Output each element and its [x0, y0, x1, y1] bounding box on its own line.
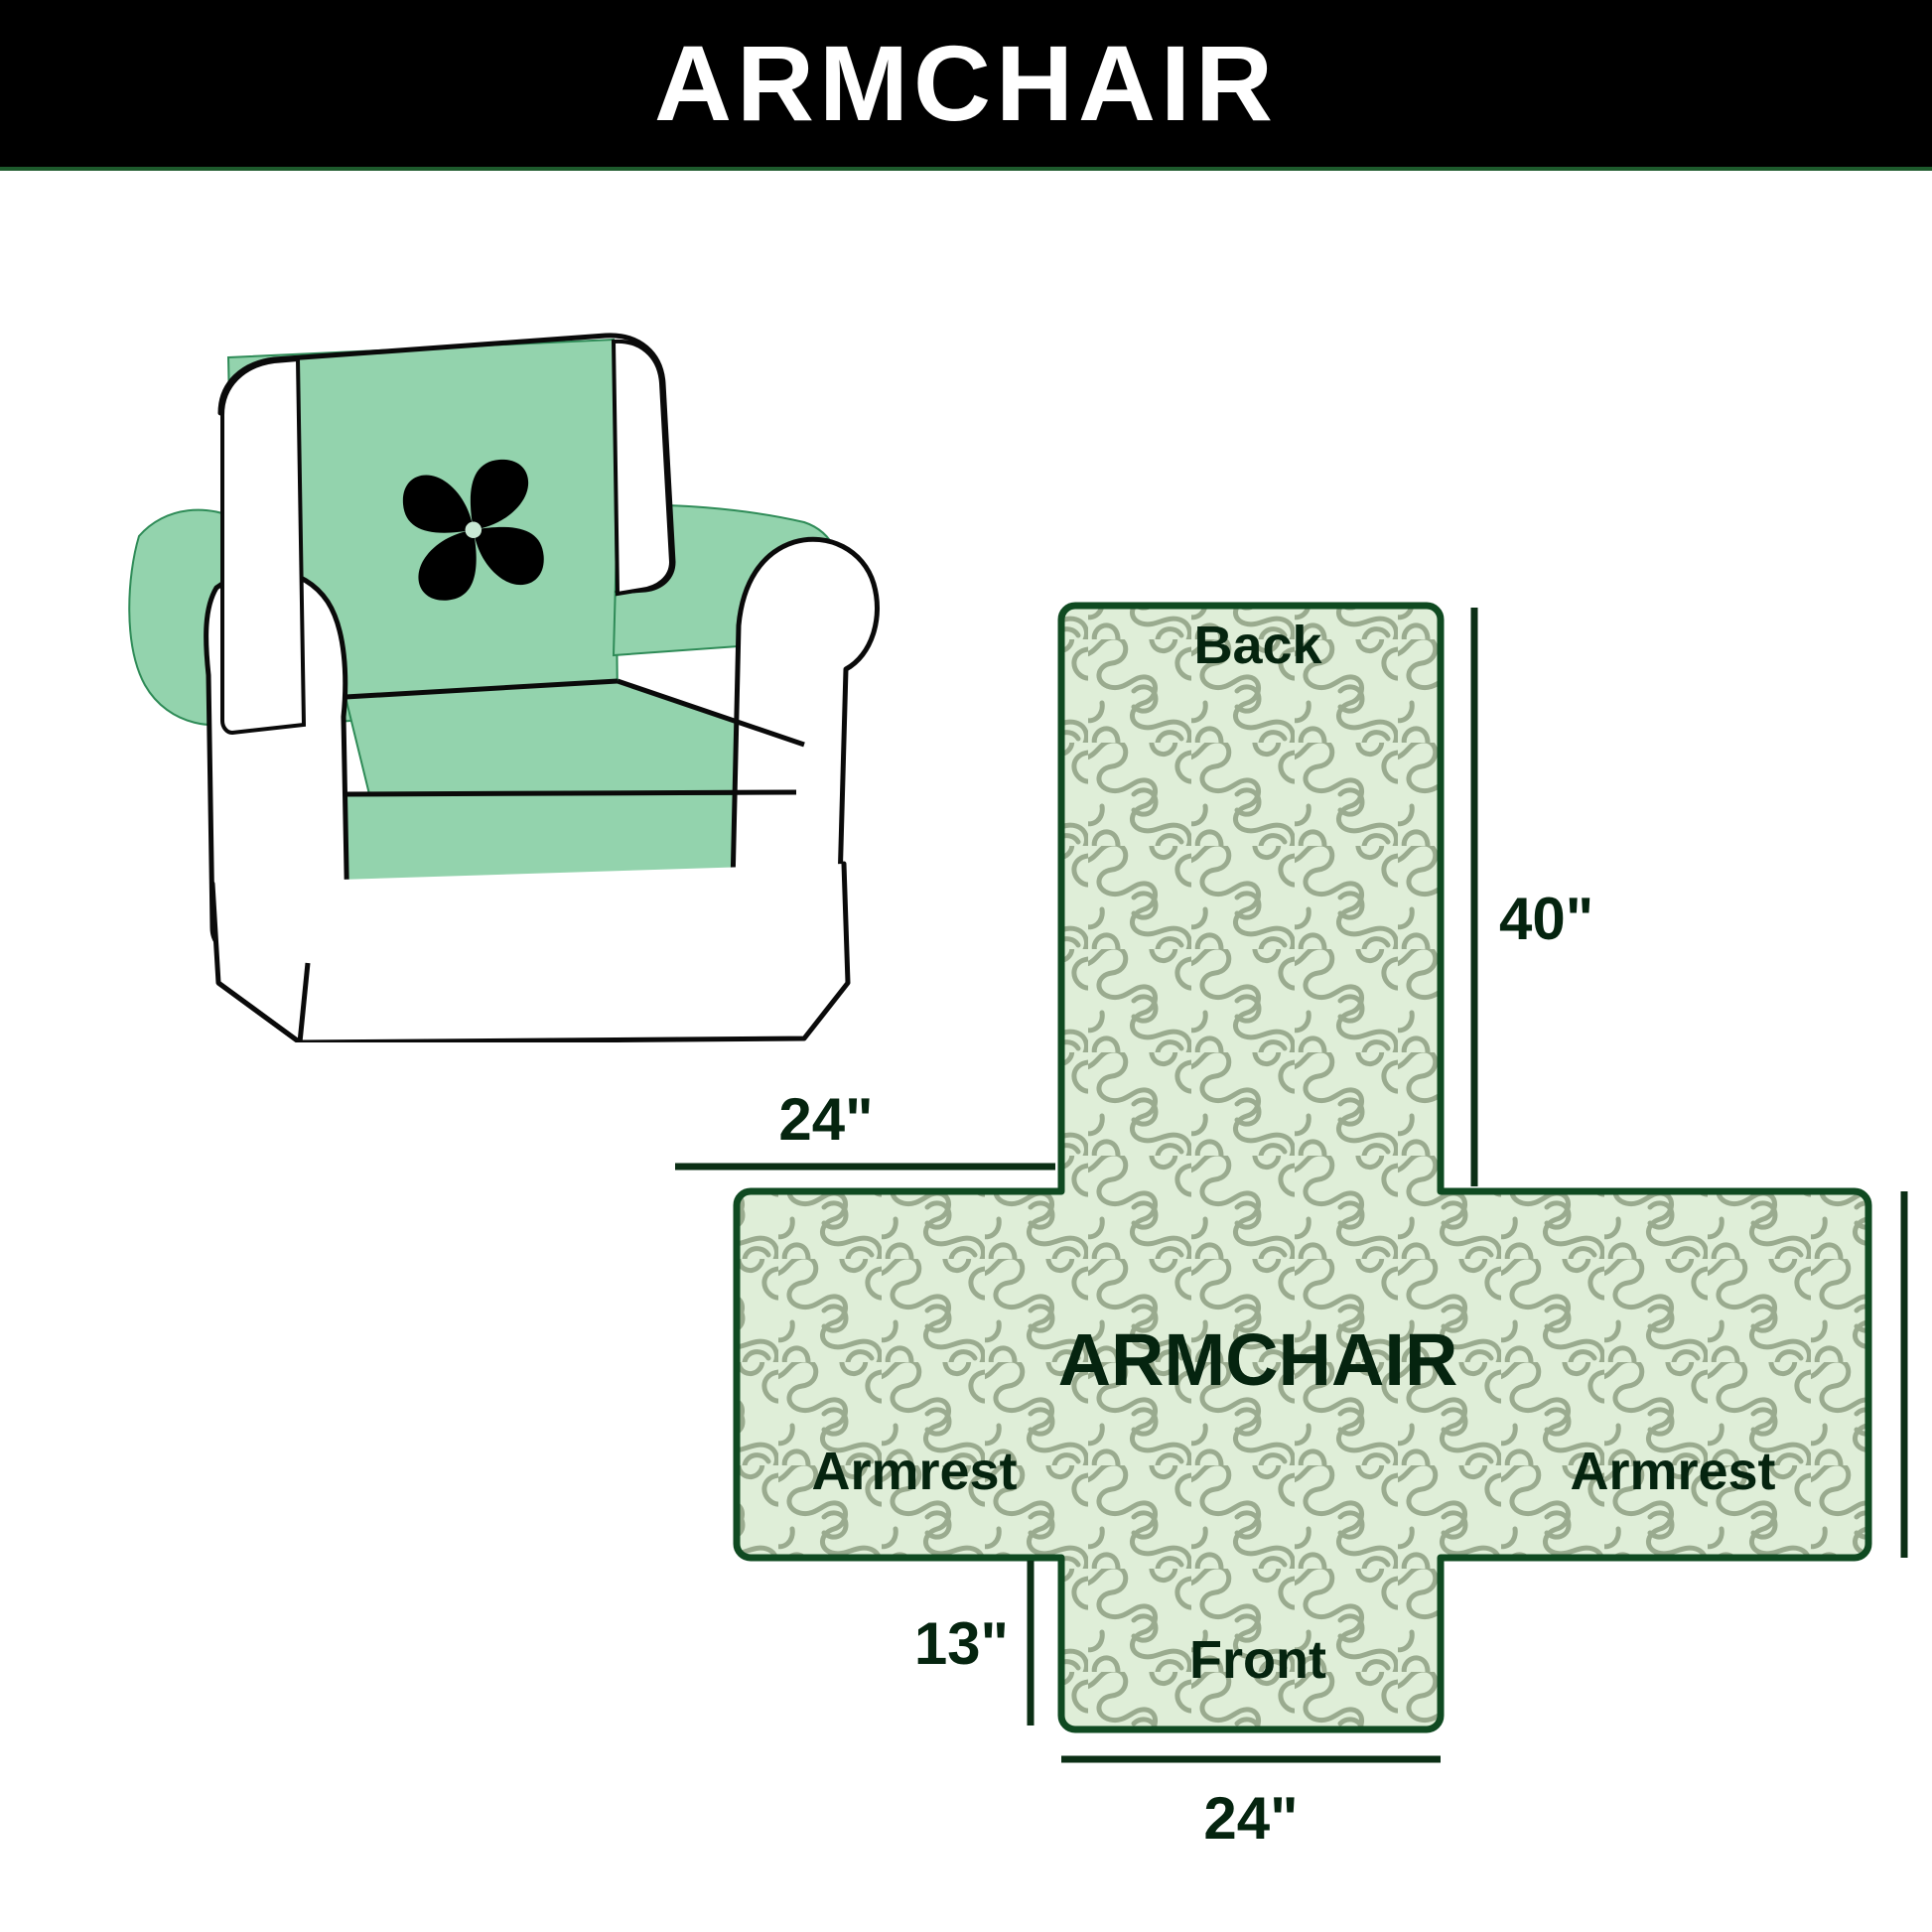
dimension-label-back-height: 40" [1499, 886, 1593, 952]
product-dimension-infographic: ARMCHAIR [0, 0, 1932, 1932]
chair-back-left-strip [222, 359, 304, 733]
diagram-center-title: ARMCHAIR [1058, 1318, 1458, 1401]
label-armrest-left: Armrest [811, 1442, 1017, 1501]
label-back: Back [1193, 616, 1322, 675]
label-armrest-right: Armrest [1570, 1442, 1775, 1501]
dimension-label-front-height: 13" [914, 1610, 1009, 1677]
label-front: Front [1189, 1630, 1326, 1690]
page-title: ARMCHAIR [654, 30, 1278, 137]
banner-divider [0, 167, 1932, 171]
fan-icon [403, 460, 544, 601]
chair-back-right-strip [614, 342, 671, 594]
header-banner: ARMCHAIR [0, 0, 1932, 167]
cover-layout-diagram: Back Armrest Armrest Front ARMCHAIR 40" … [675, 536, 1932, 1906]
dimension-label-back-width: 24" [778, 1086, 873, 1153]
dimension-label-front-width: 24" [1203, 1785, 1298, 1852]
